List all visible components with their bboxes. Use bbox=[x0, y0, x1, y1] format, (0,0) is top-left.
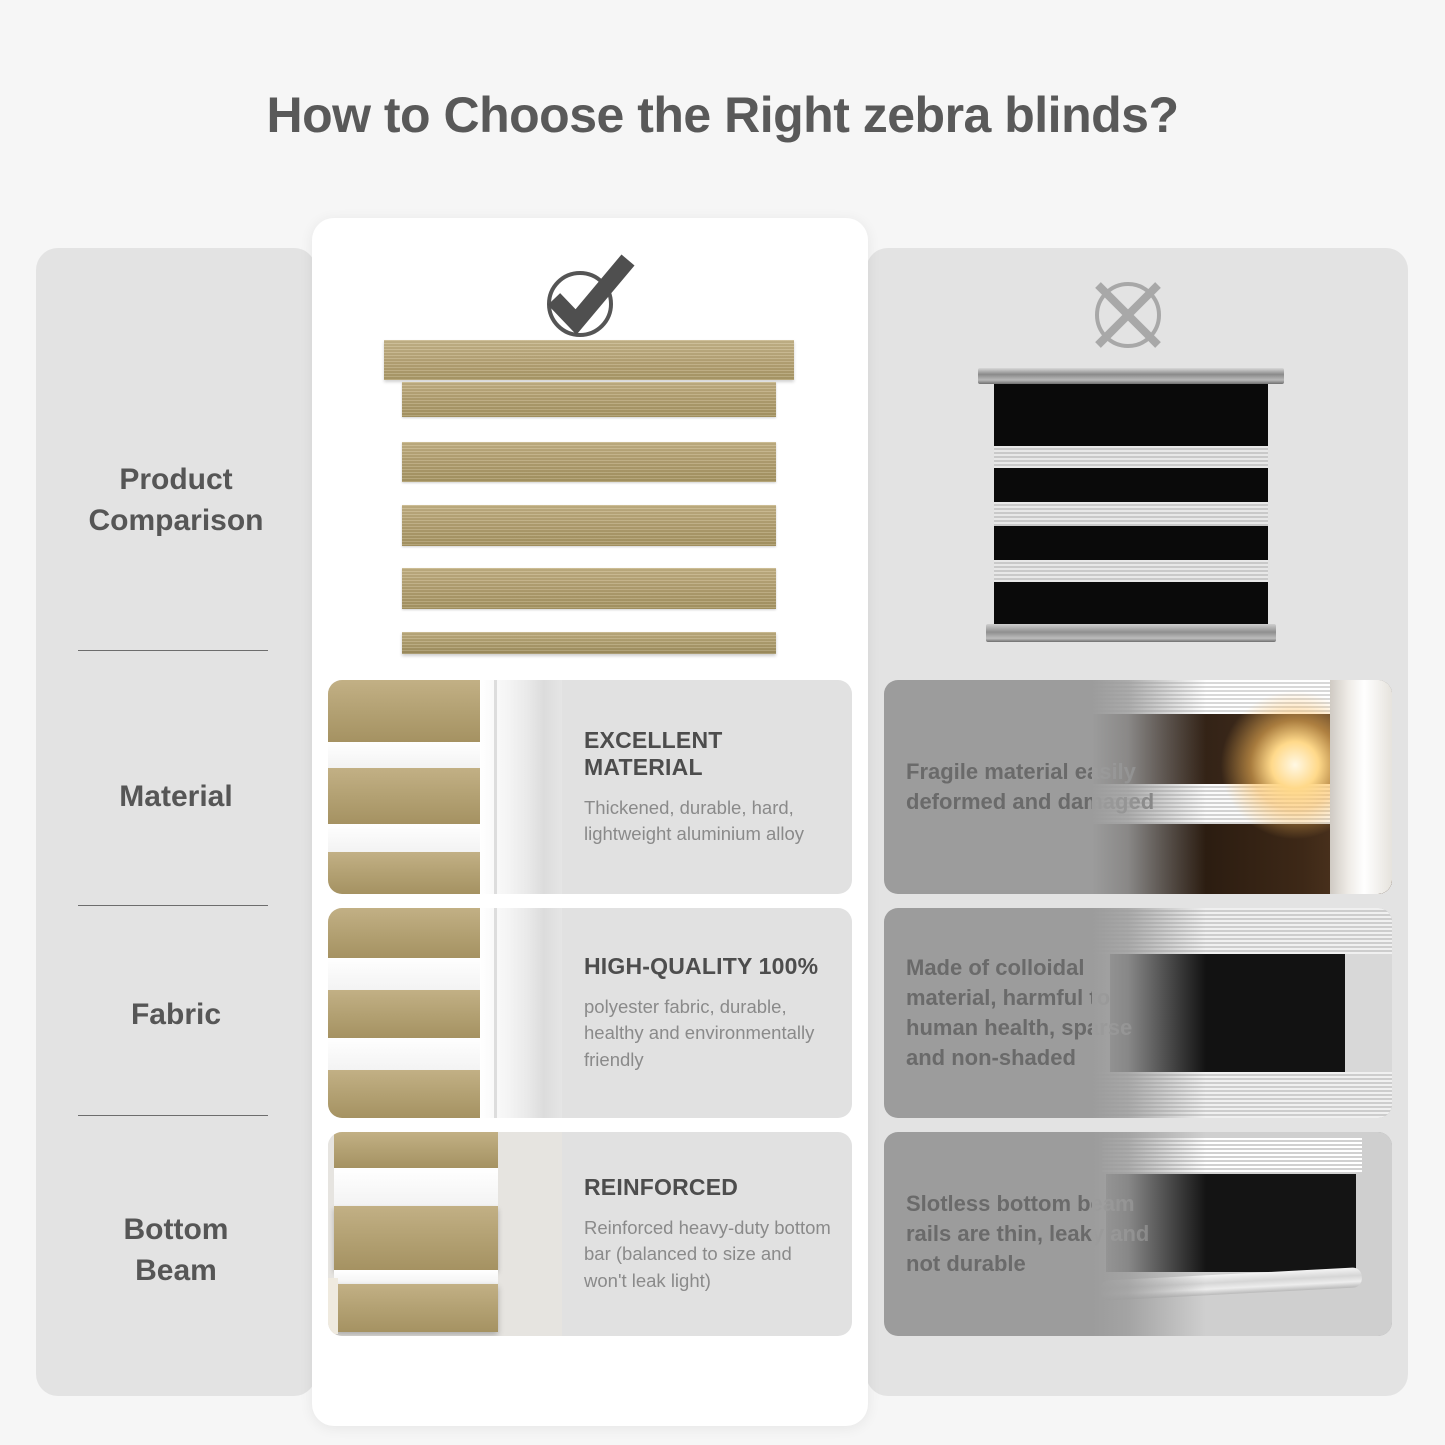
sidebar-label: Bottom Beam bbox=[124, 1209, 229, 1292]
blind-sheer-stripe bbox=[994, 502, 1268, 526]
good-feature-card-bottom-beam: REINFORCED Reinforced heavy-duty bottom … bbox=[328, 1132, 852, 1336]
blind-slat bbox=[402, 382, 776, 417]
good-card-heading: REINFORCED bbox=[584, 1174, 834, 1201]
blind-sheer-stripe bbox=[994, 560, 1268, 582]
blind-slat bbox=[402, 442, 776, 482]
blind-bottom-bar bbox=[402, 632, 776, 654]
sidebar-row-bottom-beam: Bottom Beam bbox=[36, 1150, 316, 1350]
good-feature-card-material: EXCELLENT MATERIAL Thickened, durable, h… bbox=[328, 680, 852, 894]
sidebar-label: Product Comparison bbox=[88, 459, 263, 542]
blind-fabric bbox=[994, 384, 1268, 624]
bad-bottom-rail-photo bbox=[1092, 1132, 1392, 1336]
blind-slat bbox=[402, 568, 776, 609]
page-title: How to Choose the Right zebra blinds? bbox=[0, 86, 1445, 144]
good-hero-blind-image bbox=[384, 340, 794, 665]
sidebar-row-fabric: Fabric bbox=[36, 930, 316, 1100]
blind-headrail bbox=[978, 368, 1284, 384]
sidebar-label: Fabric bbox=[131, 994, 221, 1035]
good-feature-card-fabric: HIGH-QUALITY 100% polyester fabric, dura… bbox=[328, 908, 852, 1118]
bad-material-photo bbox=[1092, 680, 1392, 894]
good-card-body: Thickened, durable, hard, lightweight al… bbox=[584, 795, 834, 848]
blind-sheer-stripe bbox=[994, 446, 1268, 468]
check-circle-icon bbox=[540, 252, 636, 342]
sidebar-label: Material bbox=[119, 776, 232, 817]
blind-bottom-bar bbox=[986, 624, 1276, 642]
good-card-heading: HIGH-QUALITY 100% bbox=[584, 953, 834, 980]
good-bottom-bar-photo bbox=[328, 1132, 562, 1336]
window-frame bbox=[480, 908, 562, 1118]
cross-circle-icon bbox=[1082, 272, 1174, 358]
sidebar-divider bbox=[78, 1115, 268, 1116]
bad-feature-card-bottom-beam: Slotless bottom beam rails are thin, lea… bbox=[884, 1132, 1392, 1336]
sidebar-row-product-comparison: Product Comparison bbox=[36, 400, 316, 600]
good-material-photo bbox=[328, 680, 562, 894]
blind-headrail bbox=[384, 340, 794, 380]
good-card-body: Reinforced heavy-duty bottom bar (balanc… bbox=[584, 1215, 834, 1294]
good-fabric-photo bbox=[328, 908, 562, 1118]
window-frame bbox=[480, 680, 562, 894]
blind-slat bbox=[402, 505, 776, 546]
sidebar-divider bbox=[78, 905, 268, 906]
bad-fabric-photo bbox=[1092, 908, 1392, 1118]
good-card-heading: EXCELLENT MATERIAL bbox=[584, 727, 834, 781]
sidebar-divider bbox=[78, 650, 268, 651]
bad-hero-blind-image bbox=[972, 368, 1290, 650]
good-card-body: polyester fabric, durable, healthy and e… bbox=[584, 994, 834, 1073]
bad-feature-card-material: Fragile material easily deformed and dam… bbox=[884, 680, 1392, 894]
bad-feature-card-fabric: Made of colloidal material, harmful to h… bbox=[884, 908, 1392, 1118]
sidebar-row-material: Material bbox=[36, 712, 316, 882]
